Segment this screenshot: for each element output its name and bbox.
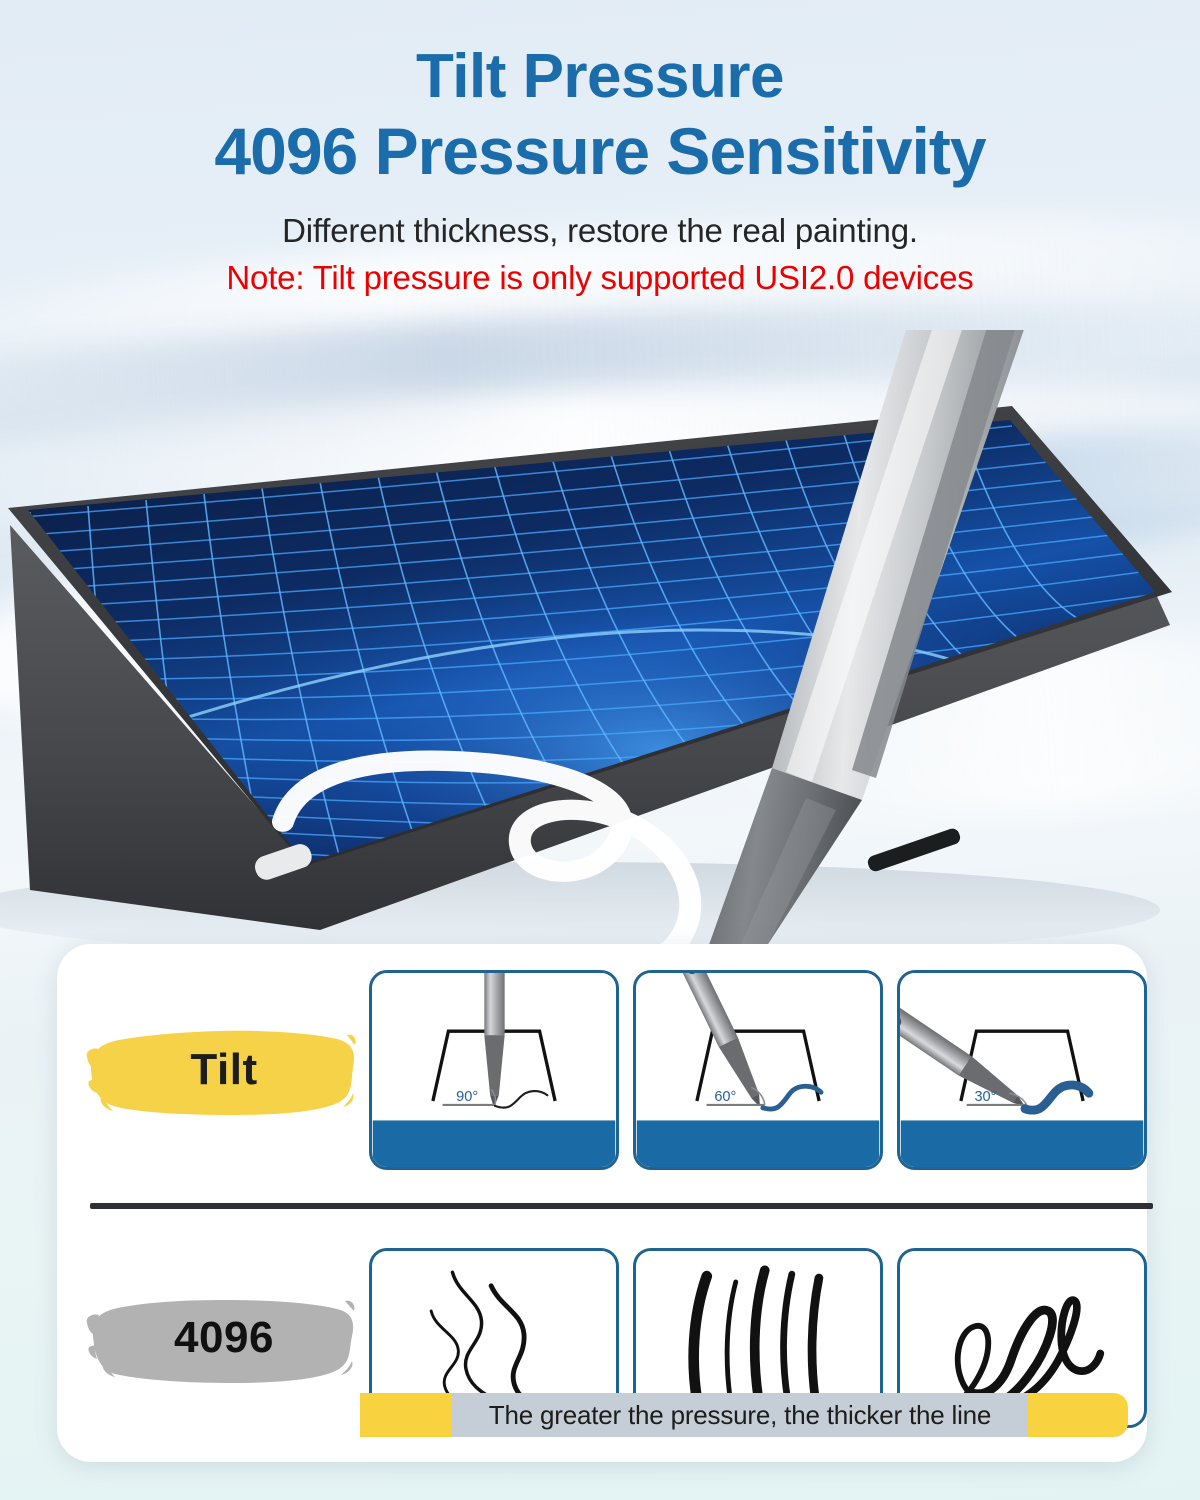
pressure-badge: 4096 [79,1273,369,1403]
pressure-caption-strip: The greater the pressure, the thicker th… [360,1393,1128,1437]
headline-block: Tilt Pressure 4096 Pressure Sensitivity … [0,0,1200,297]
tilt-row: Tilt [57,962,1147,1177]
headline-subtitle: Different thickness, restore the real pa… [0,212,1200,250]
tilt-card-group: 90° [369,970,1147,1170]
hero-illustration [0,330,1200,970]
pressure-badge-label: 4096 [174,1313,274,1363]
angle-label-30: 30° [974,1089,996,1105]
caption-text-band: The greater the pressure, the thicker th… [452,1393,1028,1437]
angle-label-60: 60° [714,1089,736,1105]
section-divider [90,1203,1153,1209]
tilt-badge-label: Tilt [190,1045,257,1095]
product-feature-image: Tilt Pressure 4096 Pressure Sensitivity … [0,0,1200,1500]
caption-yellow-left [360,1393,452,1437]
caption-yellow-right [1028,1393,1128,1437]
angle-label-90: 90° [456,1089,478,1105]
headline-line-2: 4096 Pressure Sensitivity [0,117,1200,186]
headline-note: Note: Tilt pressure is only supported US… [0,259,1200,297]
tilt-card-60: 60° [633,970,883,1170]
feature-panel: Tilt [57,944,1147,1462]
headline-line-1: Tilt Pressure [0,44,1200,109]
usb-port [866,827,962,873]
tilt-card-30: 30° [897,970,1147,1170]
tilt-badge: Tilt [79,1005,369,1135]
tilt-card-90: 90° [369,970,619,1170]
caption-text: The greater the pressure, the thicker th… [489,1400,991,1431]
